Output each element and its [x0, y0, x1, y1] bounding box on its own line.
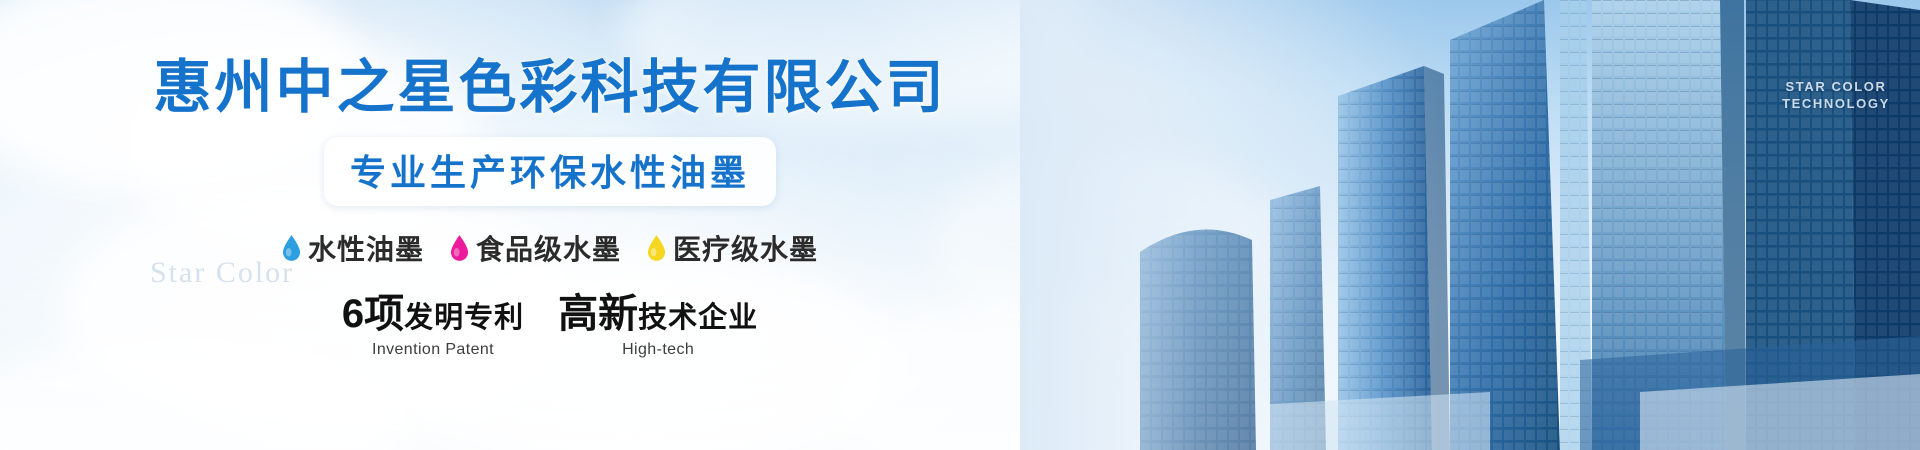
badge-strong-text: 高新 [558, 294, 638, 334]
water-drop-icon [647, 235, 666, 261]
badge-invention-patent: 6项 发明专利 Invention Patent [342, 294, 524, 359]
feature-label: 水性油墨 [308, 228, 424, 268]
logo-line-2: TECHNOLOGY [1766, 95, 1906, 112]
city-skyline-image [1020, 0, 1920, 450]
feature-item: 食品级水墨 [450, 228, 621, 268]
logo-line-1: STAR COLOR [1766, 78, 1906, 95]
badge-english-text: Invention Patent [372, 341, 494, 359]
badge-rest-text: 技术企业 [638, 304, 758, 333]
feature-item: 医疗级水墨 [647, 228, 818, 268]
company-title: 惠州中之星色彩科技有限公司 [153, 58, 946, 119]
water-drop-icon [282, 235, 301, 261]
feature-list: 水性油墨 食品级水墨 医疗级水墨 [282, 228, 818, 268]
badge-rest-text: 发明专利 [404, 304, 524, 333]
badge-strong-text: 6项 [342, 294, 404, 334]
promo-banner: Star Color [0, 0, 1920, 450]
badge-high-tech: 高新 技术企业 High-tech [558, 294, 758, 359]
water-drop-icon [450, 235, 469, 261]
feature-label: 食品级水墨 [476, 228, 621, 268]
tagline-text: 专业生产环保水性油墨 [350, 152, 750, 193]
badge-chinese: 6项 发明专利 [342, 294, 524, 334]
feature-label: 医疗级水墨 [673, 228, 818, 268]
tagline-pill: 专业生产环保水性油墨 [324, 137, 776, 206]
banner-content: 惠州中之星色彩科技有限公司 专业生产环保水性油墨 水性油墨 [0, 0, 1100, 450]
star-color-technology-logo: STAR COLOR TECHNOLOGY [1766, 78, 1906, 112]
feature-item: 水性油墨 [282, 228, 424, 268]
badge-list: 6项 发明专利 Invention Patent 高新 技术企业 High-te… [342, 294, 758, 359]
badge-chinese: 高新 技术企业 [558, 294, 758, 334]
badge-english-text: High-tech [622, 341, 694, 359]
